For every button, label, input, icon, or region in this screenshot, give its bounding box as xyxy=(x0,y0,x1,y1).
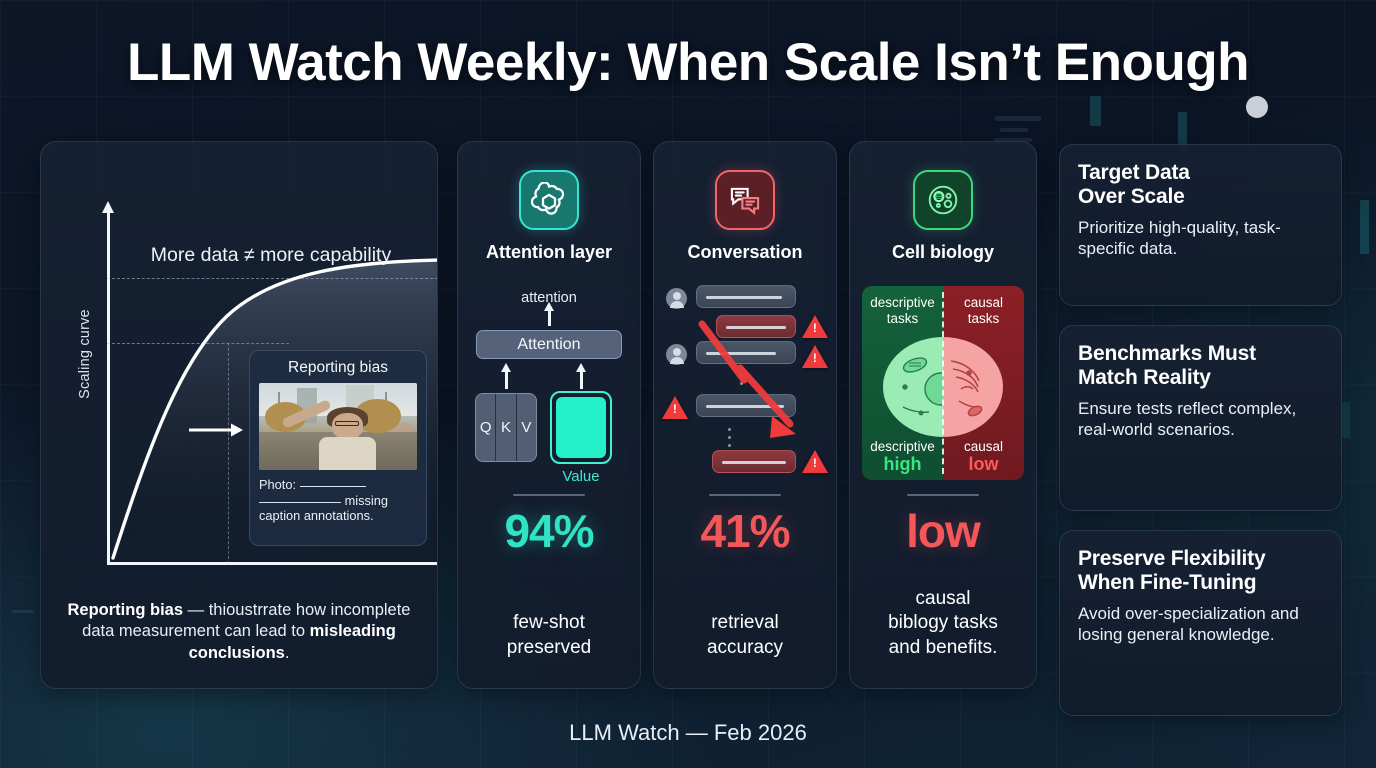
chart-area: More data ≠ more capability Scaling curv… xyxy=(61,160,419,560)
caption-prefix: Photo: xyxy=(259,477,296,492)
footnote-lead: Reporting bias xyxy=(68,601,184,619)
takeaway-heading: Benchmarks MustMatch Reality xyxy=(1078,342,1323,390)
stat-line-2: preserved xyxy=(507,637,592,658)
descriptive-vs-causal-split: descriptivetasks descriptive high causal… xyxy=(862,286,1024,480)
takeaway-card-benchmarks[interactable]: Benchmarks MustMatch Reality Ensure test… xyxy=(1059,325,1342,511)
stat-line-3: and benefits. xyxy=(889,637,998,658)
panel-attention-layer: Attention layer attention Attention Q K … xyxy=(457,141,641,689)
panel-conversation: Conversation 41% xyxy=(653,141,837,689)
takeaway-heading: Preserve FlexibilityWhen Fine-Tuning xyxy=(1078,547,1323,595)
takeaway-card-target-data[interactable]: Target DataOver Scale Prioritize high-qu… xyxy=(1059,144,1342,306)
panel-divider-c xyxy=(907,494,979,496)
descriptive-bottom-label: descriptive xyxy=(862,439,943,454)
panel-divider-b xyxy=(709,494,781,496)
chart-footnote: Reporting bias — thioustrrate how incomp… xyxy=(63,600,415,664)
causal-tasks-label: causaltasks xyxy=(943,295,1024,326)
split-divider xyxy=(942,292,944,474)
arrow-to-output-icon xyxy=(548,310,551,326)
panel-title-attention: Attention layer xyxy=(464,242,634,263)
content-stage: More data ≠ more capability Scaling curv… xyxy=(40,141,1342,691)
stat-line-1: few-shot xyxy=(513,612,585,633)
takeaway-body: Avoid over-specialization and losing gen… xyxy=(1078,603,1323,646)
footnote-body-2: . xyxy=(285,644,290,662)
v-cell: V xyxy=(517,394,536,461)
panel-scaling-chart: More data ≠ more capability Scaling curv… xyxy=(40,141,438,689)
attention-diagram: attention Attention Q K V Value xyxy=(458,284,640,484)
panel-title-cell-biology: Cell biology xyxy=(856,242,1030,263)
chart-y-axis-label: Scaling curve xyxy=(77,284,93,424)
value-label: Value xyxy=(536,468,626,485)
value-block xyxy=(550,391,612,464)
openai-swirl-icon xyxy=(519,170,579,230)
descriptive-value: high xyxy=(862,454,943,475)
takeaway-body: Ensure tests reflect complex, real-world… xyxy=(1078,398,1323,441)
inset-caption: Photo: missing caption annotations. xyxy=(259,477,417,524)
page-footer: LLM Watch — Feb 2026 xyxy=(0,720,1376,746)
arrow-from-qkv-icon xyxy=(505,371,508,389)
attention-box: Attention xyxy=(476,330,622,359)
caption-mid: missing xyxy=(345,493,388,508)
conversation-mockup xyxy=(654,282,836,487)
k-cell: K xyxy=(496,394,516,461)
inset-pointer-arrow-icon xyxy=(189,422,243,438)
page-title: LLM Watch Weekly: When Scale Isn’t Enoug… xyxy=(0,32,1376,93)
stat-caption-conversation: retrieval accuracy xyxy=(662,611,828,660)
stat-line-1: retrieval xyxy=(711,612,779,633)
stat-line-1: causal xyxy=(916,588,971,609)
stat-line-2: accuracy xyxy=(707,637,783,658)
inset-photo xyxy=(259,383,417,470)
causal-bottom-label: causal xyxy=(943,439,1024,454)
qkv-block: Q K V xyxy=(475,393,537,462)
takeaway-card-flexibility[interactable]: Preserve FlexibilityWhen Fine-Tuning Avo… xyxy=(1059,530,1342,716)
takeaway-heading: Target DataOver Scale xyxy=(1078,161,1323,209)
causal-value: low xyxy=(943,454,1024,475)
stat-caption-cell-biology: causal biblogy tasks and benefits. xyxy=(858,587,1028,660)
inset-title: Reporting bias xyxy=(259,359,417,377)
q-cell: Q xyxy=(476,394,496,461)
redaction-blank-1 xyxy=(300,486,366,487)
stat-value-cell-biology: low xyxy=(854,504,1032,558)
stat-value-attention: 94% xyxy=(462,504,636,558)
takeaway-body: Prioritize high-quality, task-specific d… xyxy=(1078,217,1323,260)
stat-value-conversation: 41% xyxy=(658,504,832,558)
chat-bubbles-icon xyxy=(715,170,775,230)
arrow-from-value-icon xyxy=(580,371,583,389)
stat-caption-attention: few-shot preserved xyxy=(466,611,632,660)
panel-title-conversation: Conversation xyxy=(660,242,830,263)
stat-line-2: biblogy tasks xyxy=(888,612,998,633)
descriptive-tasks-label: descriptivetasks xyxy=(862,295,943,326)
declining-trend-arrow-icon xyxy=(654,282,837,487)
footnote-dash: — xyxy=(188,601,205,619)
caption-end: caption annotations. xyxy=(259,508,374,523)
panel-divider-a xyxy=(513,494,585,496)
reporting-bias-inset: Reporting bias Photo xyxy=(249,350,427,546)
cell-biology-icon xyxy=(913,170,973,230)
panel-cell-biology: Cell biology descriptivetasks descriptiv… xyxy=(849,141,1037,689)
redaction-blank-2 xyxy=(259,502,341,503)
